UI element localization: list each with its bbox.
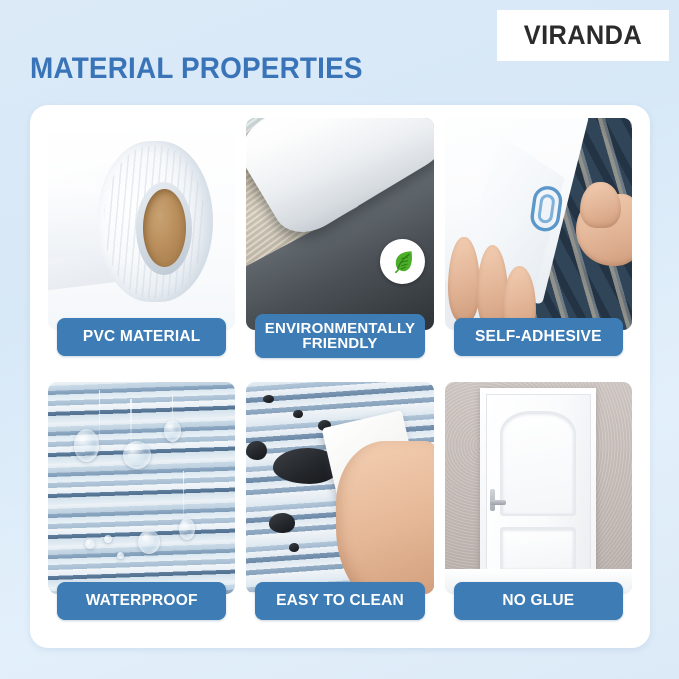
water-streak [99,390,101,445]
brand-logo: VIRANDA [497,10,669,61]
feature-card-pvc-material: PVC MATERIAL [48,118,235,371]
door-handle [490,500,506,505]
thumb-shape [580,182,621,229]
page-title: MATERIAL PROPERTIES [30,52,363,86]
eco-leaf-badge [380,239,425,284]
waterproof-photo [48,382,235,594]
water-droplet [104,535,112,543]
stain-mark [289,543,298,551]
door-panel-bottom [500,527,576,570]
roll-cardboard-core [143,189,186,267]
feature-card-environmentally-friendly: ENVIRONMENTALLY FRIENDLY [246,118,433,371]
leaf-icon [389,248,416,275]
water-droplet [117,552,124,559]
infographic-page: VIRANDA MATERIAL PROPERTIES PVC MATERIAL [0,0,679,679]
stain-mark [269,513,295,532]
hand-shape [336,441,433,594]
stain-mark [246,441,267,460]
feature-card-no-glue: NO GLUE [445,382,632,635]
environmentally-friendly-photo [246,118,433,330]
pvc-material-photo [48,118,235,330]
feature-label-no-glue: NO GLUE [454,582,623,620]
no-glue-photo [445,382,632,594]
paperclip-badge [523,181,572,241]
door-frame [480,388,596,577]
feature-label-pvc-material: PVC MATERIAL [57,318,226,356]
feature-label-easy-to-clean: EASY TO CLEAN [255,582,424,620]
feature-grid: PVC MATERIAL [48,118,632,635]
self-adhesive-photo [445,118,632,330]
feature-label-environmentally-friendly: ENVIRONMENTALLY FRIENDLY [255,314,424,358]
water-droplet [74,429,99,462]
feature-label-self-adhesive: SELF-ADHESIVE [454,318,623,356]
brand-name: VIRANDA [524,20,642,51]
feature-card-easy-to-clean: EASY TO CLEAN [246,382,433,635]
feature-card-waterproof: WATERPROOF [48,382,235,635]
feature-label-waterproof: WATERPROOF [57,582,226,620]
door-panel-top [500,411,576,516]
feature-panel: PVC MATERIAL [30,105,650,648]
feature-card-self-adhesive: SELF-ADHESIVE [445,118,632,371]
easy-to-clean-photo [246,382,433,594]
door-leaf [486,394,591,577]
stain-mark [293,410,302,418]
photo-background [48,382,235,594]
water-droplet [179,518,195,540]
paperclip-icon [524,181,573,236]
water-streak [130,399,132,446]
